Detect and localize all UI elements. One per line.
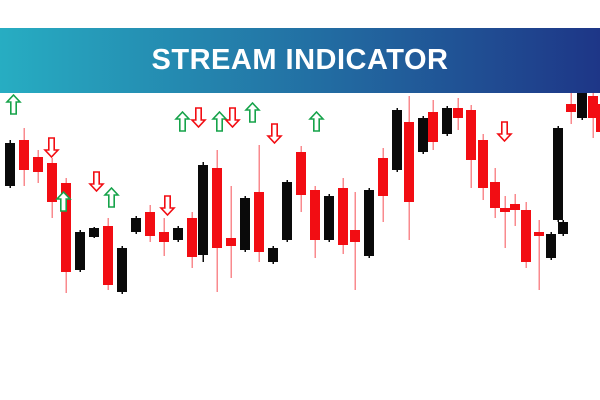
candle-bullish — [282, 182, 292, 240]
candle-wick — [538, 220, 540, 290]
candle-bullish — [558, 222, 568, 234]
candle-bullish — [577, 92, 587, 118]
sell-arrow-icon — [226, 108, 239, 127]
candle-bearish — [404, 122, 414, 202]
candle-bullish — [131, 218, 141, 232]
candle-bullish — [240, 198, 250, 250]
candle-bullish — [418, 118, 428, 152]
candle-bullish — [546, 234, 556, 258]
candle-bearish — [187, 218, 197, 257]
candle-bearish — [19, 140, 29, 170]
candle-bearish — [478, 140, 488, 188]
header-banner: STREAM INDICATOR — [0, 28, 600, 93]
sell-arrow-icon — [268, 124, 281, 143]
candle-bearish — [33, 157, 43, 172]
candle-bearish — [428, 112, 438, 142]
buy-arrow-icon — [176, 112, 189, 131]
sell-arrow-icon — [192, 108, 205, 127]
candle-bearish — [521, 210, 531, 262]
candle-bearish — [47, 163, 57, 202]
candle-bullish — [198, 165, 208, 255]
buy-arrow-icon — [310, 112, 323, 131]
candle-bullish — [324, 196, 334, 240]
candles-group — [5, 92, 600, 294]
sell-arrow-icon — [498, 122, 511, 141]
candle-bullish — [173, 228, 183, 240]
candle-bullish — [553, 128, 563, 220]
screenshot-root: STREAM INDICATOR — [0, 0, 600, 400]
candle-bearish — [534, 232, 544, 236]
candle-bullish — [268, 248, 278, 262]
buy-arrow-icon — [213, 112, 226, 131]
candle-bullish — [89, 228, 99, 237]
candle-bullish — [392, 110, 402, 170]
candle-bearish — [296, 152, 306, 195]
page-title: STREAM INDICATOR — [152, 46, 449, 75]
candle-bullish — [364, 190, 374, 256]
candle-bearish — [159, 232, 169, 242]
candle-bearish — [500, 208, 510, 212]
candle-bearish — [254, 192, 264, 252]
candle-bearish — [466, 110, 476, 160]
candle-wick — [504, 196, 506, 248]
candle-bearish — [566, 104, 576, 112]
candle-bullish — [442, 108, 452, 134]
candle-bearish — [490, 182, 500, 208]
candle-bullish — [75, 232, 85, 270]
sell-arrow-icon — [45, 138, 58, 157]
sell-arrow-icon — [161, 196, 174, 215]
buy-arrow-icon — [7, 95, 20, 114]
buy-arrow-icon — [246, 103, 259, 122]
candle-bearish — [596, 104, 600, 132]
candle-bearish — [212, 168, 222, 248]
buy-arrow-icon — [105, 188, 118, 207]
candle-bearish — [338, 188, 348, 245]
candle-bearish — [310, 190, 320, 240]
candle-bullish — [117, 248, 127, 292]
sell-arrow-icon — [90, 172, 103, 191]
candle-wick — [230, 186, 232, 278]
candle-bullish — [5, 143, 15, 186]
candle-bearish — [453, 108, 463, 118]
candle-bearish — [350, 230, 360, 242]
candle-bearish — [145, 212, 155, 236]
candle-bearish — [103, 226, 113, 285]
candle-bearish — [378, 158, 388, 196]
candle-bearish — [510, 204, 520, 210]
candle-bearish — [226, 238, 236, 246]
